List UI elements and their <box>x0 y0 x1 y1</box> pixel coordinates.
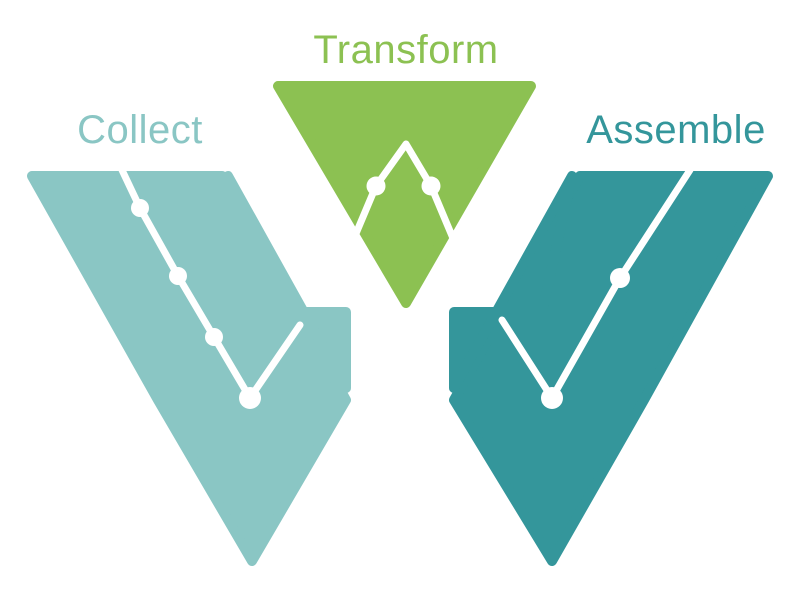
stage-group-collect[interactable]: Collect <box>32 108 346 561</box>
collect-data-point-3 <box>205 328 223 346</box>
transform-data-point-2 <box>422 177 441 196</box>
stage-group-transform[interactable]: Transform <box>278 28 531 303</box>
collect-shape-body <box>32 176 346 561</box>
assemble-label: Assemble <box>586 108 766 152</box>
diagram-canvas: Collect Transform Assemble <box>0 0 800 591</box>
transform-label: Transform <box>313 28 498 72</box>
transform-shape-body <box>278 86 531 303</box>
assemble-shape-body <box>454 176 768 561</box>
collect-data-point-2 <box>169 267 187 285</box>
assemble-data-point-1 <box>610 268 630 288</box>
pipeline-diagram: Collect Transform Assemble <box>0 0 800 591</box>
transform-data-point-1 <box>367 177 386 196</box>
collect-data-point-1 <box>131 199 149 217</box>
stage-group-assemble[interactable]: Assemble <box>454 108 768 561</box>
assemble-data-point-2 <box>541 387 563 409</box>
collect-data-point-4 <box>239 387 261 409</box>
collect-label: Collect <box>77 108 203 152</box>
